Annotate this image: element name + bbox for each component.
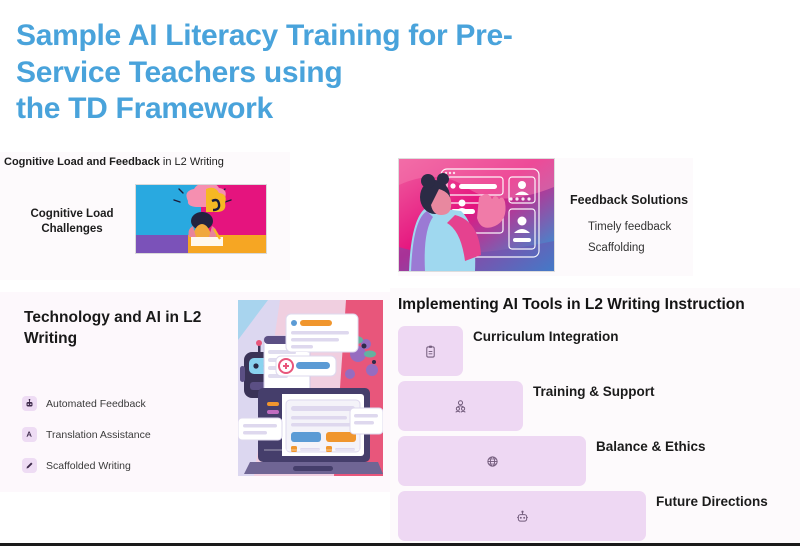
robot-head-icon [516, 510, 529, 523]
staircase-label-future: Future Directions [656, 494, 768, 509]
staircase-step: Training & Support [398, 381, 798, 433]
staircase-bar-balance[interactable] [398, 436, 586, 486]
list-item: Translation Assistance [22, 419, 227, 450]
list-item-label: Translation Assistance [46, 429, 151, 441]
page-title: Sample AI Literacy Training for Pre- Ser… [16, 18, 676, 128]
cognitive-load-heading-rest: in L2 Writing [160, 156, 224, 168]
title-line-2: Service Teachers using [16, 55, 676, 92]
list-item-label: Automated Feedback [46, 398, 146, 410]
list-item: Scaffolded Writing [22, 450, 227, 481]
staircase-label-curriculum: Curriculum Integration [473, 329, 619, 344]
list-item: Automated Feedback [22, 388, 227, 419]
title-line-1: Sample AI Literacy Training for Pre- [16, 18, 676, 55]
staircase-bar-future[interactable] [398, 491, 646, 541]
staircase-step: Balance & Ethics [398, 436, 798, 488]
feedback-solutions-heading: Feedback Solutions [570, 193, 688, 207]
feedback-item-scaffolding: Scaffolding [588, 242, 645, 254]
cognitive-load-challenges-label: Cognitive Load Challenges [12, 207, 132, 237]
cognitive-load-block: Cognitive Load and Feedback in L2 Writin… [0, 152, 290, 280]
feedback-item-timely: Timely feedback [588, 221, 671, 233]
cognitive-load-heading-bold: Cognitive Load and Feedback [4, 156, 160, 168]
woman-touching-interface-illustration [398, 158, 555, 272]
brain-student-writing-illustration [135, 184, 267, 254]
staircase-chart: Curriculum Integration Training & Suppor… [398, 326, 798, 546]
clipboard-icon [424, 345, 437, 358]
pencil-icon [22, 458, 37, 473]
title-line-3: the TD Framework [16, 91, 676, 128]
staircase-label-training: Training & Support [533, 384, 655, 399]
laptop-chatbot-illustration [238, 300, 383, 476]
translate-icon [22, 427, 37, 442]
implementing-ai-tools-heading: Implementing AI Tools in L2 Writing Inst… [398, 296, 745, 314]
technology-ai-block: Technology and AI in L2 Writing Automate… [0, 292, 390, 492]
people-icon [454, 400, 467, 413]
cognitive-load-heading: Cognitive Load and Feedback in L2 Writin… [4, 156, 224, 168]
slide-canvas: Sample AI Literacy Training for Pre- Ser… [0, 0, 800, 546]
implementing-ai-tools-block: Implementing AI Tools in L2 Writing Inst… [390, 288, 800, 543]
technology-ai-list: Automated Feedback Translation Assistanc… [22, 388, 227, 481]
staircase-step: Curriculum Integration [398, 326, 798, 378]
staircase-bar-training[interactable] [398, 381, 523, 431]
robot-icon [22, 396, 37, 411]
list-item-label: Scaffolded Writing [46, 460, 131, 472]
staircase-bar-curriculum[interactable] [398, 326, 463, 376]
technology-ai-heading: Technology and AI in L2 Writing [24, 308, 224, 350]
staircase-label-balance: Balance & Ethics [596, 439, 706, 454]
staircase-step: Future Directions [398, 491, 798, 543]
scales-globe-icon [486, 455, 499, 468]
feedback-solutions-block: Feedback Solutions Timely feedback Scaff… [398, 158, 693, 276]
